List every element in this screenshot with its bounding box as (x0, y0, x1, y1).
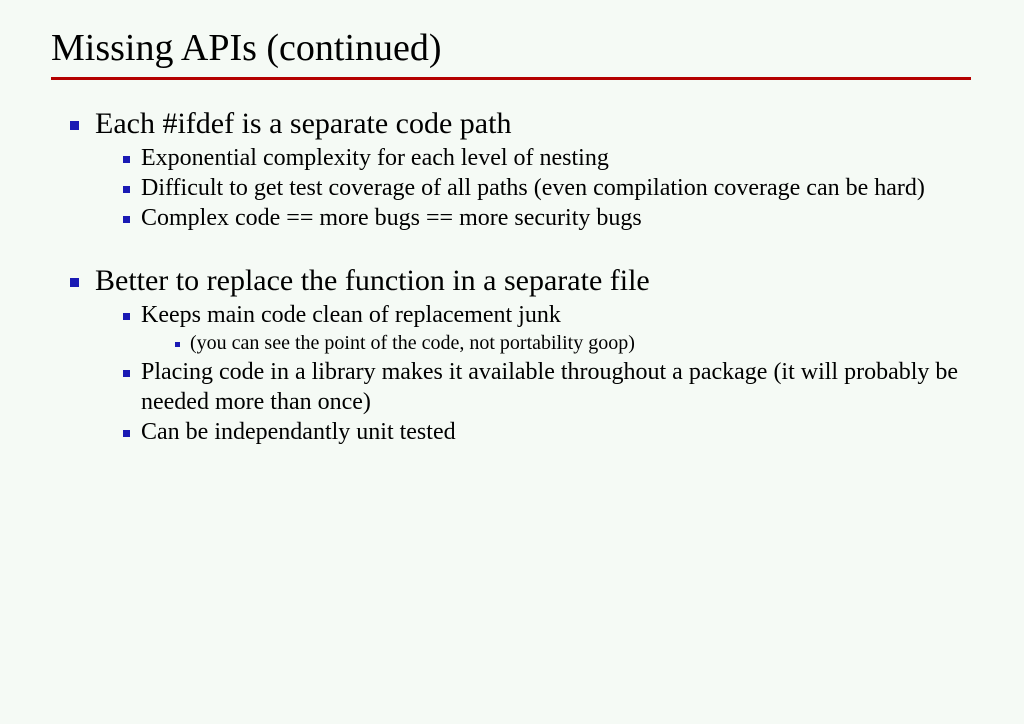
bullet-group: Better to replace the function in a sepa… (0, 261, 1024, 447)
bullet-level3: (you can see the point of the code, not … (0, 330, 1024, 357)
title-block: Missing APIs (continued) (51, 26, 971, 70)
bullet-level2: Placing code in a library makes it avail… (0, 357, 1024, 417)
bullet-level2: Can be independantly unit tested (0, 417, 1024, 447)
bullet-level2: Complex code == more bugs == more securi… (0, 203, 1024, 233)
page-title: Missing APIs (continued) (51, 26, 971, 70)
bullet-level2: Difficult to get test coverage of all pa… (0, 173, 1024, 203)
bullet-square-icon (175, 342, 180, 347)
bullet-text: Complex code == more bugs == more securi… (141, 203, 1024, 233)
slide: Missing APIs (continued) Each #ifdef is … (0, 0, 1024, 724)
bullet-text: Each #ifdef is a separate code path (95, 104, 1024, 143)
bullet-text: Difficult to get test coverage of all pa… (141, 173, 1024, 203)
bullet-square-icon (123, 216, 130, 223)
bullet-level2: Exponential complexity for each level of… (0, 143, 1024, 173)
bullet-square-icon (70, 278, 79, 287)
bullet-square-icon (70, 121, 79, 130)
bullet-text: Placing code in a library makes it avail… (141, 357, 1024, 417)
bullet-group: Each #ifdef is a separate code path Expo… (0, 104, 1024, 233)
bullet-square-icon (123, 370, 130, 377)
bullet-square-icon (123, 186, 130, 193)
bullet-text: Keeps main code clean of replacement jun… (141, 300, 1024, 330)
slide-body: Each #ifdef is a separate code path Expo… (0, 104, 1024, 447)
bullet-text: (you can see the point of the code, not … (190, 330, 1024, 357)
bullet-square-icon (123, 156, 130, 163)
bullet-text: Exponential complexity for each level of… (141, 143, 1024, 173)
bullet-square-icon (123, 430, 130, 437)
bullet-text: Better to replace the function in a sepa… (95, 261, 1024, 300)
bullet-level1: Better to replace the function in a sepa… (0, 261, 1024, 300)
title-underline-rule (51, 77, 971, 80)
bullet-level2: Keeps main code clean of replacement jun… (0, 300, 1024, 330)
bullet-text: Can be independantly unit tested (141, 417, 1024, 447)
bullet-level1: Each #ifdef is a separate code path (0, 104, 1024, 143)
bullet-square-icon (123, 313, 130, 320)
